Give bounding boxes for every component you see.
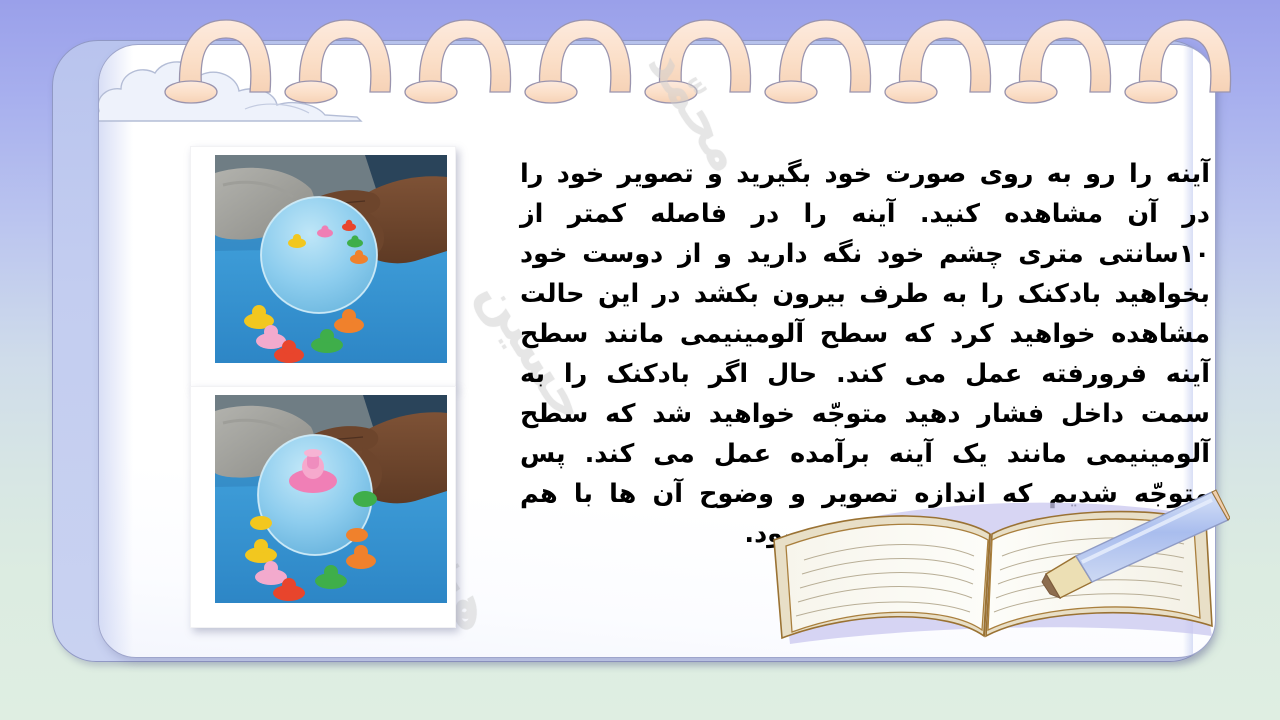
photo-image-concave — [199, 155, 447, 379]
slide-canvas: محمّد حسین هشترودی — [0, 0, 1280, 720]
lesson-paragraph: آینه را رو به روی صورت خود بگیرید و تصوی… — [520, 154, 1210, 554]
photo-mirror-concave[interactable] — [190, 146, 456, 388]
cloud-icon — [98, 53, 365, 123]
photo-image-convex — [199, 395, 447, 619]
photo-mirror-convex[interactable] — [190, 386, 456, 628]
